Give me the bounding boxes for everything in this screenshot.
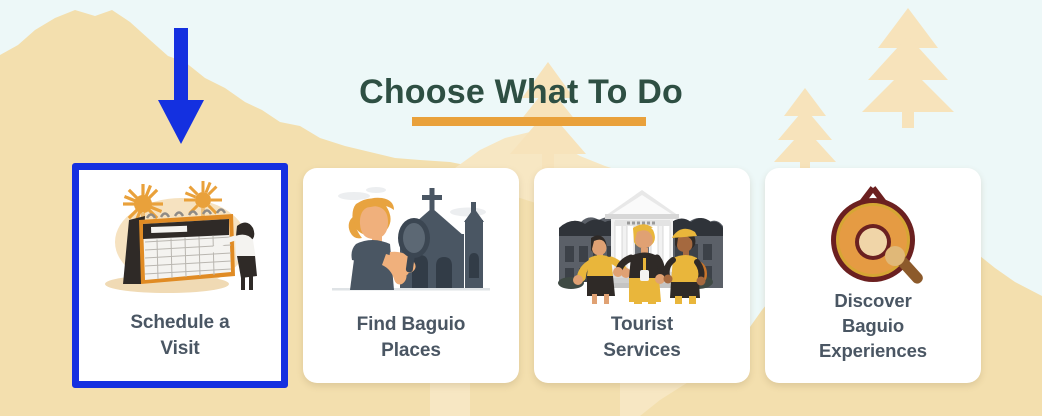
card-discover-baguio-experiences[interactable]: Discover Baguio Experiences [765,168,981,383]
card-label-line: Tourist [603,312,680,338]
gong-icon [778,182,968,286]
calendar-illustration-icon [85,180,275,302]
card-schedule-a-visit[interactable]: Schedule a Visit [72,163,288,388]
card-label-line: Places [357,338,466,364]
woman-magnifier-church-icon [316,182,506,304]
action-cards-row: Schedule a Visit [0,163,1042,393]
card-label-line: Baguio [819,313,927,338]
choose-what-to-do-screen: Choose What To Do [0,0,1042,416]
card-label-line: Experiences [819,338,927,363]
city-hall-tourists-icon [547,182,737,304]
card-label-line: Visit [130,336,229,362]
card-label-tourist-services: Tourist Services [603,312,680,364]
down-arrow-annotation-icon [155,28,207,144]
card-tourist-services[interactable]: Tourist Services [534,168,750,383]
card-label-discover-baguio-experiences: Discover Baguio Experiences [819,288,927,363]
card-label-line: Discover [819,288,927,313]
card-label-line: Find Baguio [357,312,466,338]
card-label-line: Schedule a [130,310,229,336]
card-label-find-baguio-places: Find Baguio Places [357,312,466,364]
card-find-baguio-places[interactable]: Find Baguio Places [303,168,519,383]
card-label-line: Services [603,338,680,364]
title-underline-accent [412,117,646,126]
card-label-schedule-a-visit: Schedule a Visit [130,310,229,362]
